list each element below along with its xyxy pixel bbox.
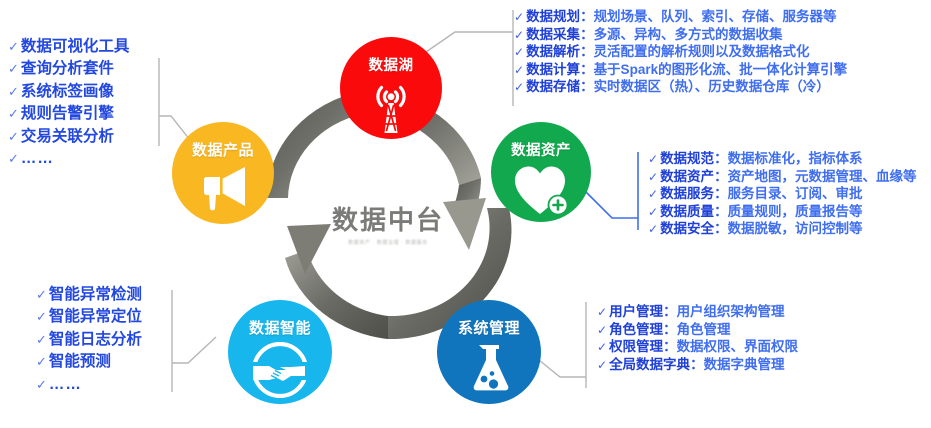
list-item-desc: 数据标准化，指标体系	[728, 150, 863, 168]
check-icon: ✓	[648, 170, 658, 186]
list-item: ✓全局数据字典：数据字典管理	[597, 356, 798, 374]
list-item-separator: ：	[580, 61, 594, 79]
check-icon: ✓	[8, 150, 19, 169]
node-data-product-label: 数据产品	[192, 139, 254, 160]
list-item-term: 规则告警引擎	[21, 103, 114, 125]
list-item: ✓智能异常定位	[36, 306, 142, 328]
list-item: ✓角色管理：角色管理	[597, 321, 798, 339]
list-item: ✓用户管理：用户组织架构管理	[597, 303, 798, 321]
node-data-asset[interactable]: 数据资产	[491, 122, 591, 222]
list-item-desc: 数据脱敏，访问控制等	[728, 220, 863, 238]
list-item: ✓权限管理：数据权限、界面权限	[597, 338, 798, 356]
center-subtitle: 数据资产 · 数据治理 · 数据服务	[303, 239, 473, 246]
check-icon: ✓	[597, 323, 607, 339]
list-item: ✓数据服务：服务目录、订阅、审批	[648, 185, 917, 203]
list-item-desc: 质量规则，质量报告等	[728, 203, 863, 221]
broadcast-tower-icon	[366, 79, 416, 135]
diagram-canvas: 数据中台 数据资产 · 数据治理 · 数据服务 数据湖	[0, 0, 931, 428]
list-item-separator: ：	[690, 356, 704, 374]
node-data-lake[interactable]: 数据湖	[340, 37, 442, 139]
list-item: ✓数据采集：多源、异构、多方式的数据收集	[514, 26, 847, 44]
list-item-term: 智能日志分析	[49, 329, 142, 351]
check-icon: ✓	[648, 222, 658, 238]
list-item-desc: 服务目录、订阅、审批	[728, 185, 863, 203]
check-icon: ✓	[514, 45, 524, 61]
list-item-term: 数据存储	[526, 78, 580, 96]
list-data-intelligence: ✓智能异常检测✓智能异常定位✓智能日志分析✓智能预测✓……	[36, 284, 142, 396]
list-item-separator: ：	[663, 338, 677, 356]
list-item: ✓数据可视化工具	[8, 36, 129, 58]
list-item-term: 数据安全	[660, 220, 714, 238]
list-item-term: 数据服务	[660, 185, 714, 203]
list-item-term: 数据可视化工具	[21, 36, 130, 58]
list-item: ✓数据规范：数据标准化，指标体系	[648, 150, 917, 168]
list-item-separator: ：	[580, 43, 594, 61]
check-icon: ✓	[514, 63, 524, 79]
list-item-desc: 资产地图，元数据管理、血缘等	[728, 168, 917, 186]
list-item-term: 智能预测	[49, 351, 111, 373]
list-item: ✓数据解析：灵活配置的解析规则以及数据格式化	[514, 43, 847, 61]
node-system-management-label: 系统管理	[458, 317, 520, 338]
check-icon: ✓	[36, 353, 47, 372]
list-item-separator: ：	[714, 203, 728, 221]
list-item-separator: ：	[714, 150, 728, 168]
check-icon: ✓	[8, 128, 19, 147]
check-icon: ✓	[8, 60, 19, 79]
list-item-term: 角色管理	[609, 321, 663, 339]
list-item-term: 数据规划	[526, 8, 580, 26]
list-item: ✓查询分析套件	[8, 58, 129, 80]
list-item-desc: 数据字典管理	[704, 356, 785, 374]
check-icon: ✓	[8, 38, 19, 57]
megaphone-icon	[195, 164, 251, 214]
node-data-intelligence[interactable]: 数据智能	[228, 300, 332, 404]
list-item-separator: ：	[714, 185, 728, 203]
list-item: ✓数据资产：资产地图，元数据管理、血缘等	[648, 168, 917, 186]
node-data-intelligence-label: 数据智能	[249, 317, 311, 338]
page-title: 数据中台	[303, 207, 473, 233]
check-icon: ✓	[648, 152, 658, 168]
list-item-term: 全局数据字典	[609, 356, 690, 374]
handshake-icon	[251, 342, 309, 398]
list-item: ✓数据安全：数据脱敏，访问控制等	[648, 220, 917, 238]
check-icon: ✓	[36, 286, 47, 305]
check-icon: ✓	[8, 83, 19, 102]
list-item-separator: ：	[580, 26, 594, 44]
list-item: ✓系统标签画像	[8, 81, 129, 103]
list-item-separator: ：	[714, 168, 728, 186]
list-item: ✓智能预测	[36, 351, 142, 373]
list-item: ✓规则告警引擎	[8, 103, 129, 125]
list-item-desc: 基于Spark的图形化流、批一体化计算引擎	[594, 61, 848, 79]
bracket-data-intelligence	[172, 290, 216, 392]
list-item-term: 数据资产	[660, 168, 714, 186]
list-system-management: ✓用户管理：用户组织架构管理✓角色管理：角色管理✓权限管理：数据权限、界面权限✓…	[597, 303, 798, 373]
list-item-term: ……	[21, 148, 54, 170]
list-data-lake: ✓数据规划：规划场景、队列、索引、存储、服务器等✓数据采集：多源、异构、多方式的…	[514, 8, 847, 96]
check-icon: ✓	[514, 28, 524, 44]
list-item: ✓数据计算：基于Spark的图形化流、批一体化计算引擎	[514, 61, 847, 79]
list-item-desc: 数据权限、界面权限	[677, 338, 799, 356]
list-item-desc: 用户组织架构管理	[677, 303, 785, 321]
check-icon: ✓	[648, 187, 658, 203]
list-item-desc: 灵活配置的解析规则以及数据格式化	[594, 43, 810, 61]
list-item: ✓……	[36, 374, 142, 396]
node-data-asset-label: 数据资产	[511, 139, 571, 160]
list-item-term: 系统标签画像	[21, 81, 114, 103]
list-item: ✓智能日志分析	[36, 329, 142, 351]
list-data-asset: ✓数据规范：数据标准化，指标体系✓数据资产：资产地图，元数据管理、血缘等✓数据服…	[648, 150, 917, 238]
check-icon: ✓	[8, 105, 19, 124]
list-item-term: 数据采集	[526, 26, 580, 44]
list-item: ✓智能异常检测	[36, 284, 142, 306]
bracket-data-product	[159, 58, 190, 146]
center-label-group: 数据中台 数据资产 · 数据治理 · 数据服务	[303, 207, 473, 246]
list-item-term: 用户管理	[609, 303, 663, 321]
list-item: ✓数据质量：质量规则，质量报告等	[648, 203, 917, 221]
list-item: ✓数据规划：规划场景、队列、索引、存储、服务器等	[514, 8, 847, 26]
node-system-management[interactable]: 系统管理	[437, 300, 541, 404]
node-data-product[interactable]: 数据产品	[172, 122, 274, 224]
list-item-separator: ：	[580, 78, 594, 96]
check-icon: ✓	[597, 358, 607, 374]
heart-plus-icon	[513, 164, 569, 216]
check-icon: ✓	[514, 80, 524, 96]
list-item-term: 数据规范	[660, 150, 714, 168]
list-item: ✓交易关联分析	[8, 126, 129, 148]
check-icon: ✓	[597, 340, 607, 356]
list-data-product: ✓数据可视化工具✓查询分析套件✓系统标签画像✓规则告警引擎✓交易关联分析✓……	[8, 36, 129, 171]
check-icon: ✓	[36, 308, 47, 327]
list-item-term: 智能异常定位	[49, 306, 142, 328]
list-item-term: 交易关联分析	[21, 126, 114, 148]
list-item-separator: ：	[580, 8, 594, 26]
list-item-term: 数据解析	[526, 43, 580, 61]
list-item: ✓数据存储：实时数据区（热）、历史数据仓库（冷）	[514, 78, 847, 96]
list-item-desc: 实时数据区（热）、历史数据仓库（冷）	[594, 78, 830, 96]
bracket-system-management	[534, 302, 586, 388]
check-icon: ✓	[514, 10, 524, 26]
list-item-term: 权限管理	[609, 338, 663, 356]
list-item-term: ……	[49, 374, 82, 396]
list-item-term: 数据计算	[526, 61, 580, 79]
list-item-desc: 角色管理	[677, 321, 731, 339]
bracket-data-asset	[586, 152, 638, 230]
check-icon: ✓	[36, 376, 47, 395]
list-item-desc: 多源、异构、多方式的数据收集	[594, 26, 783, 44]
check-icon: ✓	[648, 205, 658, 221]
list-item-term: 智能异常检测	[49, 284, 142, 306]
list-item-term: 数据质量	[660, 203, 714, 221]
flask-icon	[466, 342, 512, 394]
node-data-lake-label: 数据湖	[369, 54, 414, 75]
list-item-separator: ：	[714, 220, 728, 238]
check-icon: ✓	[36, 331, 47, 350]
list-item-term: 查询分析套件	[21, 58, 114, 80]
list-item-separator: ：	[663, 303, 677, 321]
list-item-separator: ：	[663, 321, 677, 339]
list-item-desc: 规划场景、队列、索引、存储、服务器等	[594, 8, 837, 26]
list-item: ✓……	[8, 148, 129, 170]
check-icon: ✓	[597, 305, 607, 321]
